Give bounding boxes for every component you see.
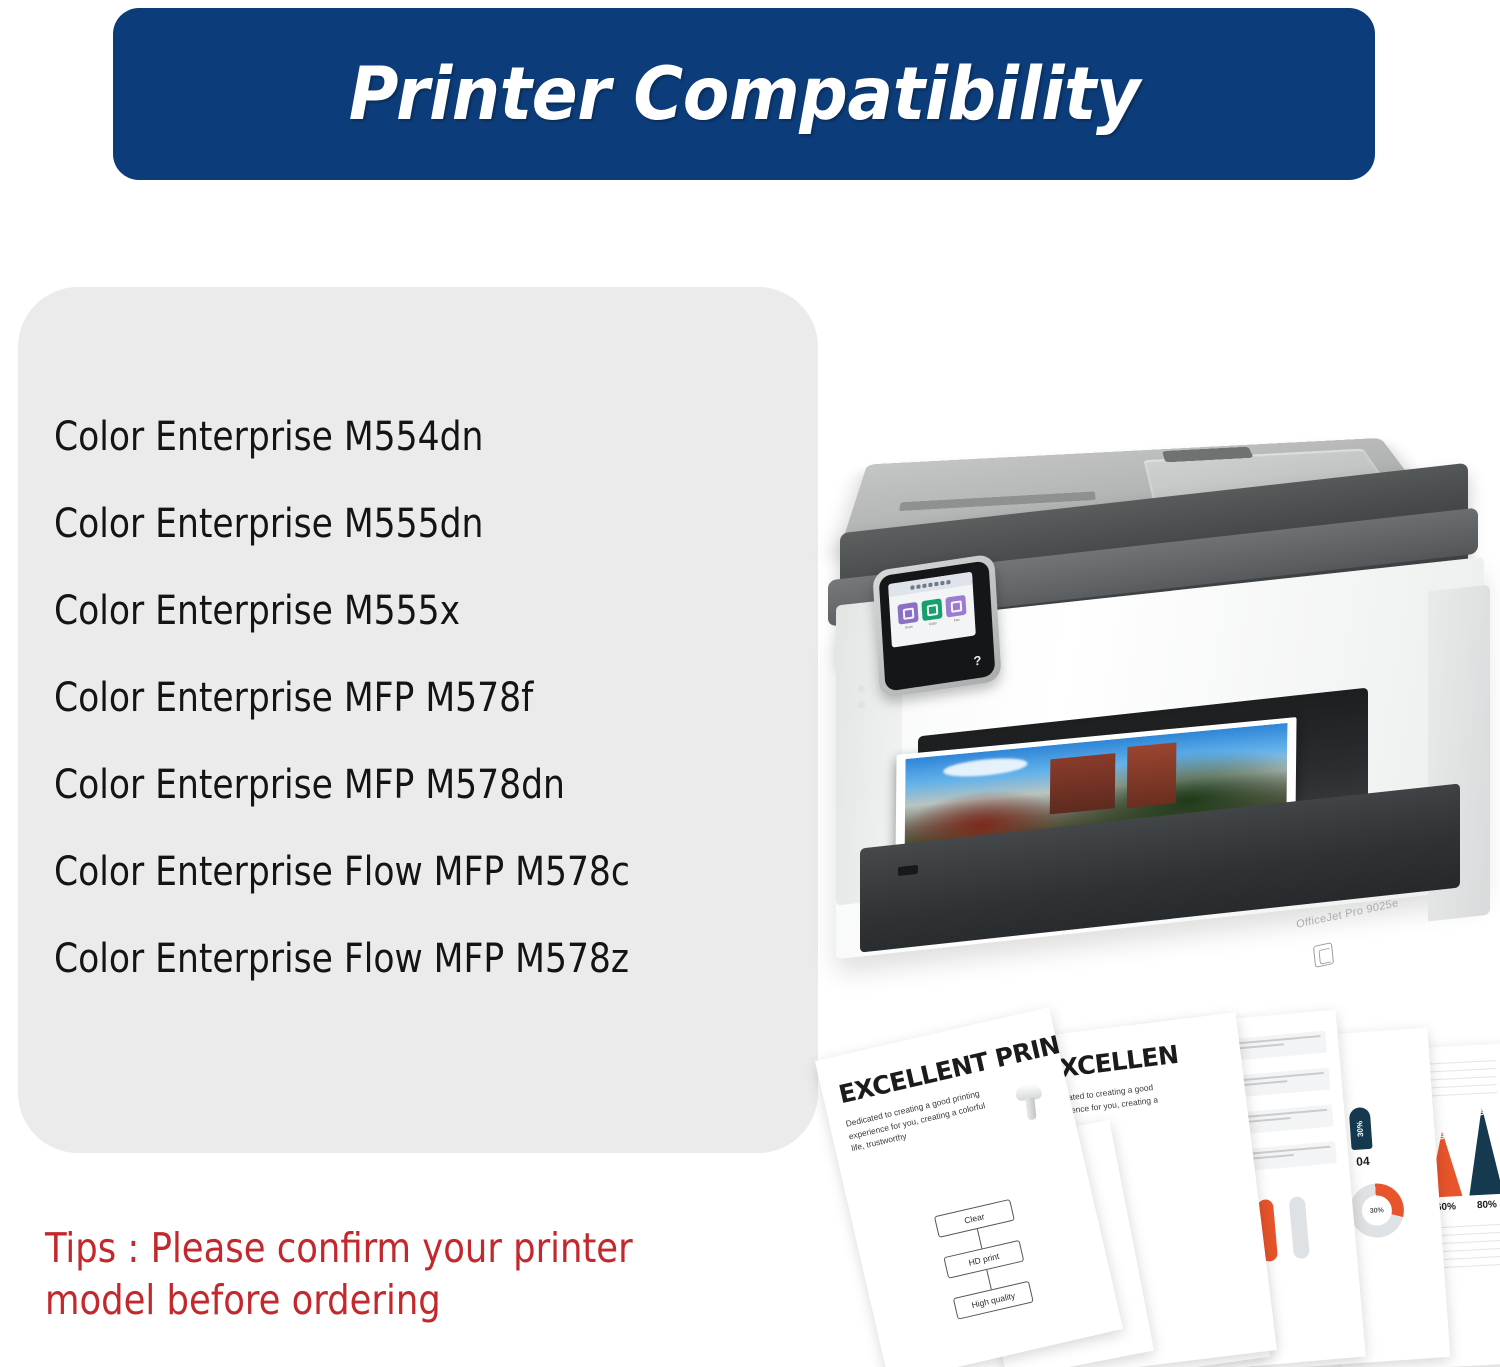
printer-control-panel[interactable]: Scan Copy Fax ? [872,553,1002,698]
copy-app-label: Copy [923,620,943,627]
list-item: Color Enterprise MFP M578f [54,678,764,718]
fax-app-tile[interactable] [945,595,966,618]
sheet-headline-secondary: EXCELLEN [1041,1034,1227,1085]
printer-product-image: Scan Copy Fax ? OfficeJet Pro 9025e [818,330,1500,1010]
bar-value-04: 30% [1356,1120,1366,1137]
list-item: Color Enterprise M554dn [54,417,764,457]
photo-building-left [1050,753,1116,814]
flow-step-high-quality-secondary: High quality [953,1281,1034,1320]
help-icon [946,579,950,584]
tri-col: 04 80% [1465,1106,1500,1212]
settings-icon [928,582,932,587]
compatibility-panel: Color Enterprise M554dn Color Enterprise… [18,287,818,1153]
tips-line-2: model before ordering [45,1274,775,1326]
fax-app-label: Fax [947,617,967,624]
network-icon [934,581,938,586]
pushpin-icon [1015,1083,1045,1125]
pushpin-stem [1025,1098,1036,1121]
list-item: Color Enterprise Flow MFP M578c [54,852,764,892]
tips-note: Tips : Please confirm your printer model… [45,1222,805,1327]
header-banner: Printer Compatibility [113,8,1375,180]
list-item: Color Enterprise MFP M578dn [54,765,764,805]
list-item: Color Enterprise M555dn [54,504,764,544]
list-item: Color Enterprise Flow MFP M578z [54,939,764,979]
scan-app-label: Scan [899,624,919,631]
bar-04: 30% [1349,1107,1373,1150]
control-panel-bezel-inner: Scan Copy Fax ? [879,560,996,691]
flow-step-hd-print-secondary: HD print [943,1240,1024,1279]
tri-label-04: 04 [1476,1107,1485,1116]
bar-col: 30% 04 [1349,1107,1374,1169]
tips-line-1: Tips : Please confirm your printer [45,1222,775,1274]
info-icon [940,580,944,585]
bar-label-04: 04 [1356,1154,1370,1169]
photo-cloud [943,755,1027,779]
printer-touchscreen[interactable]: Scan Copy Fax [888,572,976,648]
scan-app-tile[interactable] [897,602,918,625]
printer-status-led [858,685,865,692]
flow-connector [986,1270,991,1290]
flow-step-clear-secondary: Clear [934,1199,1015,1238]
copy-app-tile[interactable] [921,598,942,621]
pill-4 [1289,1196,1310,1259]
help-question-icon[interactable]: ? [973,653,982,669]
fax-icon [950,600,962,613]
scan-icon [902,607,914,620]
ink-icon [916,584,920,589]
donut-value-2: 30% [1361,1195,1393,1227]
list-item: Color Enterprise M555x [54,591,764,631]
donut-chart-2: 30% [1348,1182,1406,1240]
clock-icon [922,583,926,588]
print-sample-sheets: 01 50% 02 70% 03 60% 04 80% [845,1012,1500,1367]
page-title: Printer Compatibility [348,52,1139,137]
printer-compatibility-page: Printer Compatibility Color Enterprise M… [0,0,1500,1367]
nfc-icon [1313,942,1334,968]
photo-building-right [1126,742,1176,808]
tri-bar-04: 04 [1465,1106,1500,1196]
tri-label-03: 03 [1437,1131,1446,1140]
flow-connector [976,1229,981,1249]
wifi-icon [910,585,914,590]
tri-value-04: 80% [1477,1199,1498,1211]
printer-model-list: Color Enterprise M554dn Color Enterprise… [54,417,794,1026]
copy-icon [926,603,938,616]
